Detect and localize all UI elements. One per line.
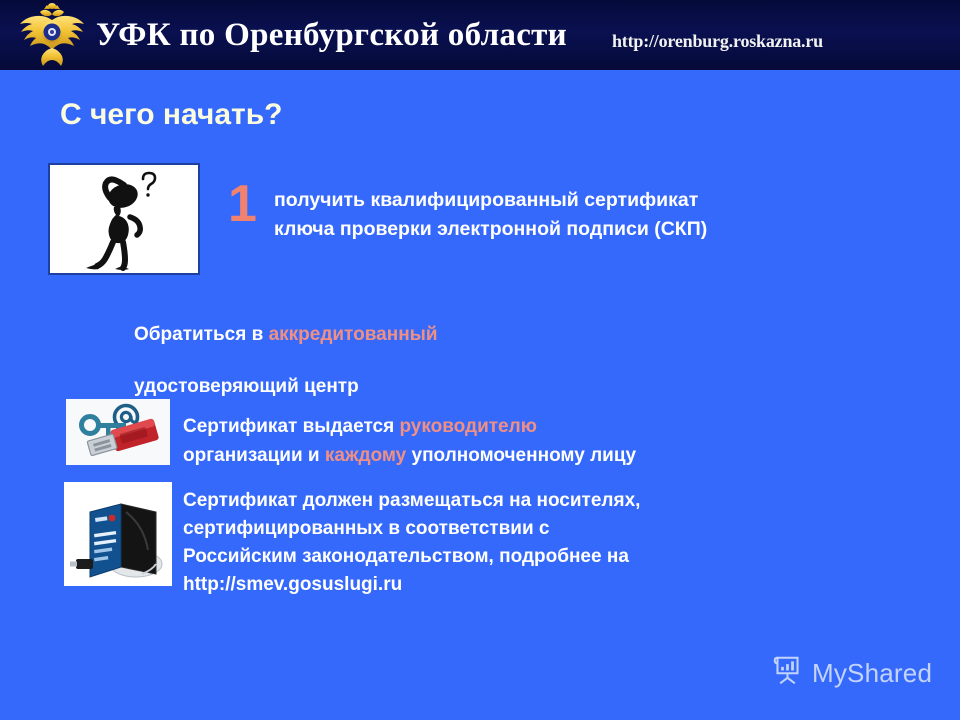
puzzled-person-silhouette-image [48, 163, 200, 275]
cd-line3: Российским законодательством, подробнее … [183, 543, 883, 571]
usb-line2-highlight: каждому [325, 445, 406, 466]
page-title: С чего начать? [60, 98, 282, 132]
accredited-line1: Обратиться в аккредитованный [134, 309, 774, 361]
presentation-chart-icon [772, 655, 803, 691]
usb-line1: Сертификат выдается руководителю [183, 412, 883, 441]
slide-header: УФК по Оренбургской области http://orenb… [0, 0, 960, 70]
accredited-line2: удостоверяющий центр [134, 361, 774, 413]
step1-line1: получить квалифицированный сертификат [274, 186, 874, 215]
cd-line1: Сертификат должен размещаться на носител… [183, 487, 883, 515]
step-number: 1 [228, 178, 257, 230]
cd-line4-url[interactable]: http://smev.gosuslugi.ru [183, 571, 883, 599]
accredited-highlight: аккредитованный [269, 324, 438, 345]
usb-line1-prefix: Сертификат выдается [183, 416, 399, 437]
myshared-watermark: MyShared [772, 655, 932, 691]
accredited-line1-prefix: Обратиться в [134, 324, 269, 345]
step1-text: получить квалифицированный сертификат кл… [274, 186, 874, 244]
russian-double-headed-eagle-emblem-icon [14, 2, 90, 70]
usb-line2-suffix: уполномоченному лицу [406, 445, 636, 466]
myshared-watermark-label: MyShared [812, 658, 932, 689]
usb-line1-highlight: руководителю [399, 416, 536, 437]
accredited-center-text: Обратиться в аккредитованный удостоверяю… [134, 309, 774, 413]
cd-item-text: Сертификат должен размещаться на носител… [183, 487, 883, 599]
header-title: УФК по Оренбургской области [96, 17, 567, 54]
usb-line2: организации и каждому уполномоченному ли… [183, 441, 883, 470]
header-url[interactable]: http://orenburg.roskazna.ru [612, 31, 823, 52]
presentation-slide: УФК по Оренбургской области http://orenb… [0, 0, 960, 720]
usb-flash-drive-key-email-image [66, 399, 170, 465]
usb-item-text: Сертификат выдается руководителю организ… [183, 412, 883, 470]
cd-line2: сертифицированных в соответствии с [183, 515, 883, 543]
software-cd-case-usb-stick-image [64, 482, 172, 586]
usb-line2-prefix: организации и [183, 445, 325, 466]
step1-line2: ключа проверки электронной подписи (СКП) [274, 215, 874, 244]
